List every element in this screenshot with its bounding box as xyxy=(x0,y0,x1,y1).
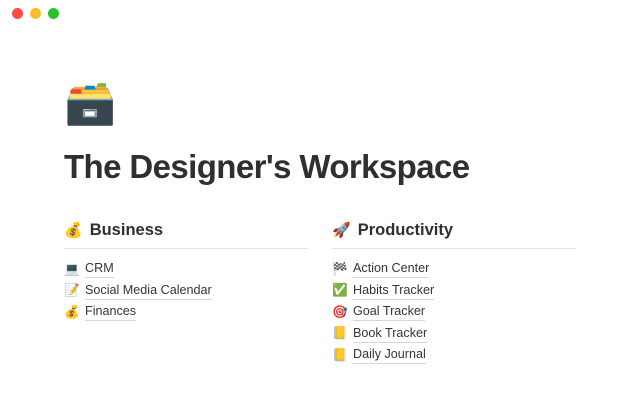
close-window-button[interactable] xyxy=(12,8,23,19)
ledger-icon: 📒 xyxy=(332,349,346,362)
link-goal-tracker[interactable]: Goal Tracker xyxy=(353,303,425,321)
money-bag-icon: 💰 xyxy=(64,306,78,319)
app-window: 🗃️ The Designer's Workspace 💰 Business 💻… xyxy=(0,0,640,400)
check-mark-button-icon: ✅ xyxy=(332,284,346,297)
window-titlebar xyxy=(0,0,640,26)
section-divider xyxy=(332,248,576,249)
list-item[interactable]: ✅ Habits Tracker xyxy=(332,280,576,302)
link-social-media-calendar[interactable]: Social Media Calendar xyxy=(85,282,212,300)
card-file-box-icon[interactable]: 🗃️ xyxy=(64,82,576,130)
ledger-icon: 📒 xyxy=(332,327,346,340)
list-item[interactable]: 📒 Daily Journal xyxy=(332,344,576,366)
columns-container: 💰 Business 💻 CRM 📝 Social Media Calendar… xyxy=(64,220,576,366)
link-book-tracker[interactable]: Book Tracker xyxy=(353,325,427,343)
section-heading-label: Business xyxy=(90,220,163,241)
section-heading-business: 💰 Business xyxy=(64,220,308,248)
link-list-productivity: 🏁 Action Center ✅ Habits Tracker 🎯 Goal … xyxy=(332,258,576,366)
page-content: 🗃️ The Designer's Workspace 💰 Business 💻… xyxy=(0,82,640,366)
section-divider xyxy=(64,248,308,249)
rocket-icon: 🚀 xyxy=(332,223,351,238)
list-item[interactable]: 📝 Social Media Calendar xyxy=(64,280,308,302)
link-habits-tracker[interactable]: Habits Tracker xyxy=(353,282,434,300)
link-action-center[interactable]: Action Center xyxy=(353,260,429,278)
link-finances[interactable]: Finances xyxy=(85,303,136,321)
laptop-icon: 💻 xyxy=(64,263,78,276)
list-item[interactable]: 📒 Book Tracker xyxy=(332,323,576,345)
chequered-flag-icon: 🏁 xyxy=(332,263,346,276)
direct-hit-icon: 🎯 xyxy=(332,306,346,319)
link-list-business: 💻 CRM 📝 Social Media Calendar 💰 Finances xyxy=(64,258,308,323)
maximize-window-button[interactable] xyxy=(48,8,59,19)
memo-icon: 📝 xyxy=(64,284,78,297)
column-productivity: 🚀 Productivity 🏁 Action Center ✅ Habits … xyxy=(332,220,576,366)
list-item[interactable]: 💻 CRM xyxy=(64,258,308,280)
page-title: The Designer's Workspace xyxy=(64,148,576,186)
money-bag-icon: 💰 xyxy=(64,223,83,238)
minimize-window-button[interactable] xyxy=(30,8,41,19)
link-daily-journal[interactable]: Daily Journal xyxy=(353,346,426,364)
section-heading-productivity: 🚀 Productivity xyxy=(332,220,576,248)
list-item[interactable]: 🎯 Goal Tracker xyxy=(332,301,576,323)
list-item[interactable]: 🏁 Action Center xyxy=(332,258,576,280)
link-crm[interactable]: CRM xyxy=(85,260,114,278)
section-heading-label: Productivity xyxy=(358,220,453,241)
window-controls xyxy=(12,8,59,19)
list-item[interactable]: 💰 Finances xyxy=(64,301,308,323)
column-business: 💰 Business 💻 CRM 📝 Social Media Calendar… xyxy=(64,220,308,366)
